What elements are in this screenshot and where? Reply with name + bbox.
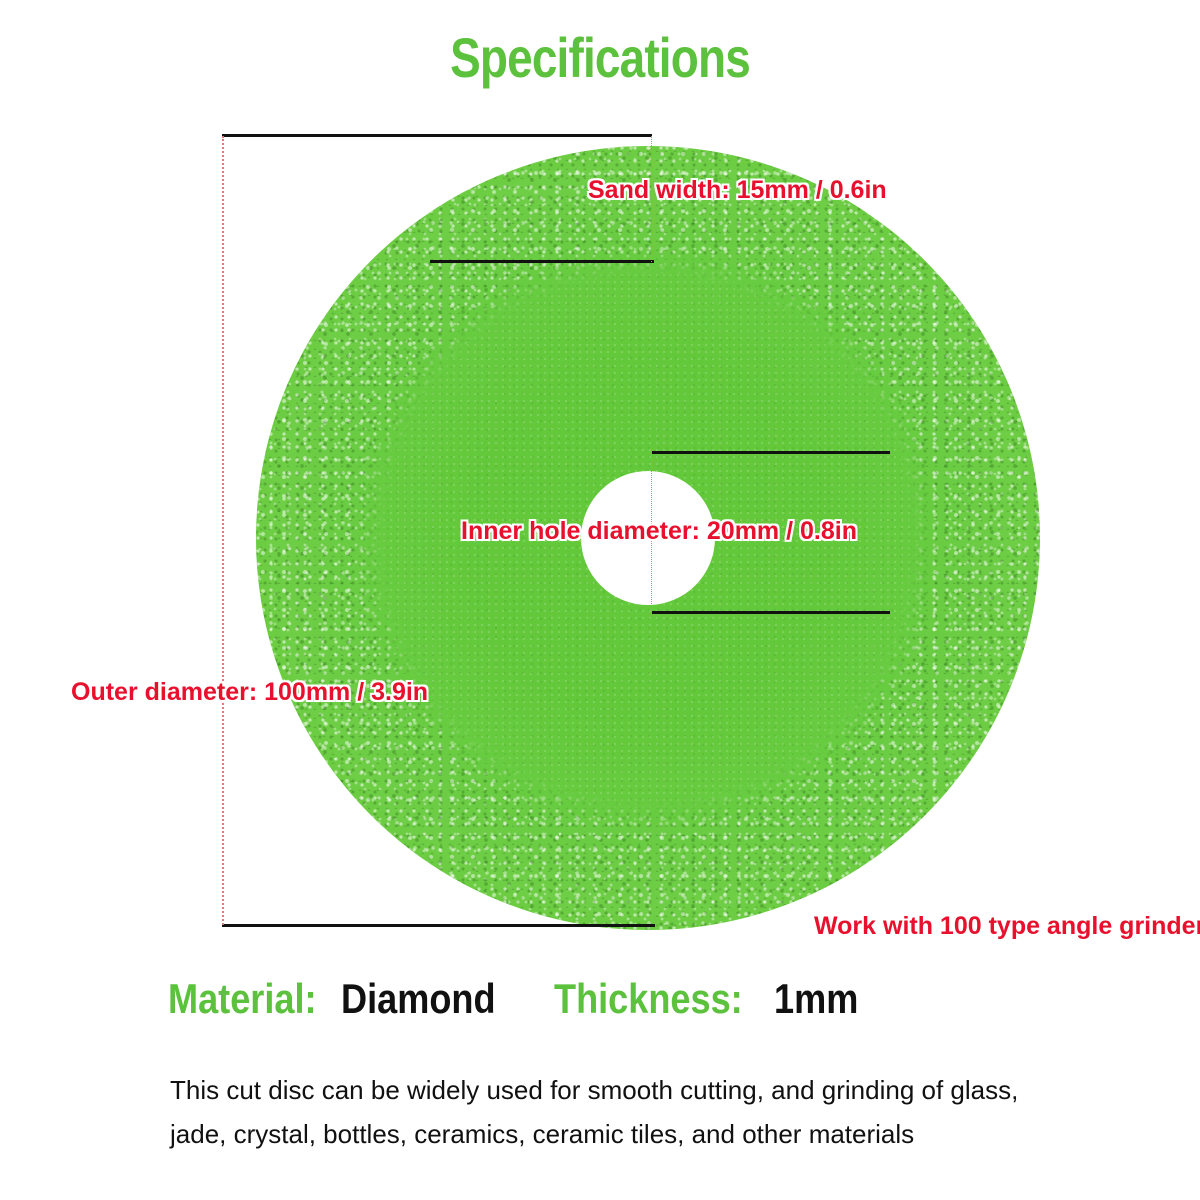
thickness-value: 1mm xyxy=(774,976,858,1022)
specifications-page: Specifications Sand width: 15mm / 0.6in … xyxy=(0,0,1200,1200)
angle-grinder-label: Work with 100 type angle grinder xyxy=(814,912,1200,941)
sand-width-inner-line xyxy=(430,260,654,263)
outer-diameter-top-line xyxy=(222,134,652,137)
inner-hole-top-line xyxy=(652,451,890,454)
outer-diameter-label: Outer diameter: 100mm / 3.9in xyxy=(71,678,428,707)
inner-hole-bottom-line xyxy=(652,611,890,614)
inner-hole-label: Inner hole diameter: 20mm / 0.8in xyxy=(461,517,857,546)
sand-width-label: Sand width: 15mm / 0.6in xyxy=(588,176,887,205)
specs-line: Material:DiamondThickness:1mm xyxy=(168,976,872,1022)
product-description: This cut disc can be widely used for smo… xyxy=(170,1068,1070,1156)
outer-diameter-measure-line xyxy=(222,136,224,925)
outer-diameter-bottom-line xyxy=(222,924,655,927)
thickness-label: Thickness: xyxy=(554,976,743,1022)
material-label: Material: xyxy=(168,976,317,1022)
material-value: Diamond xyxy=(341,976,496,1022)
